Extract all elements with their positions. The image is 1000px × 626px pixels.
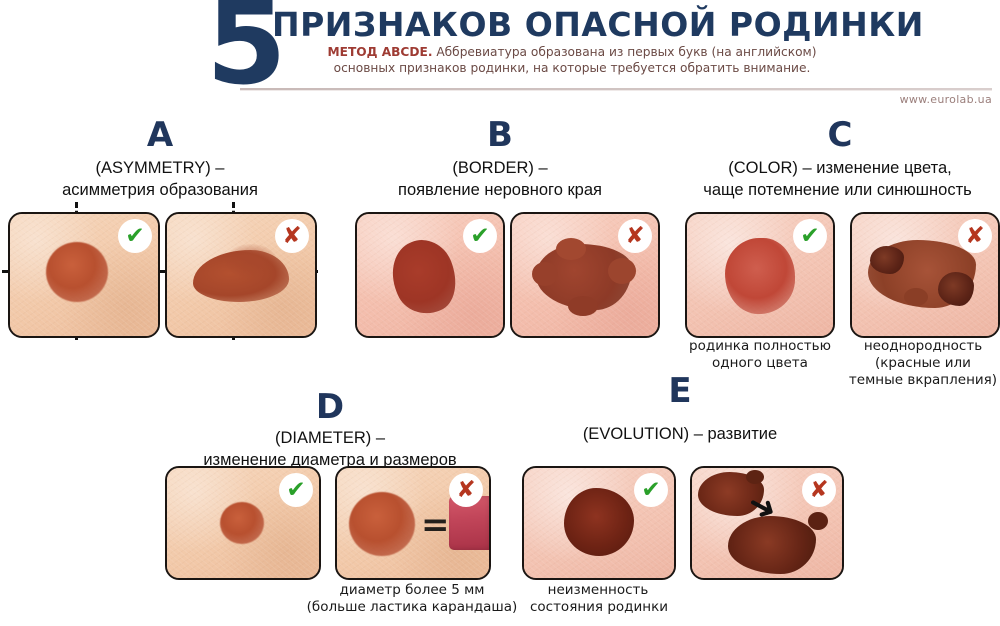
mole-dark-patch-2: [938, 272, 974, 306]
mole-asymmetric-lobe: [225, 244, 277, 278]
pencil-ferrule: [489, 496, 491, 550]
mole-lobe-2: [608, 258, 636, 284]
section-title-b-line2: появление неровного края: [340, 180, 660, 200]
section-title-d-line1: (DIAMETER) –: [180, 428, 480, 448]
card-b-smooth-border[interactable]: ✔: [355, 212, 505, 338]
infographic-root: 5 ПРИЗНАКОВ ОПАСНОЙ РОДИНКИ МЕТОД ABCDE.…: [0, 0, 1000, 626]
caption-c-no-line3: темные вкрапления): [848, 372, 998, 389]
header: 5 ПРИЗНАКОВ ОПАСНОЙ РОДИНКИ МЕТОД ABCDE.…: [0, 0, 1000, 112]
section-title-a-line1: (ASYMMETRY) –: [10, 158, 310, 178]
section-letter-d: D: [230, 390, 430, 424]
section-title-c-line1: (COLOR) – изменение цвета,: [680, 158, 1000, 178]
mole-unchanged: [564, 488, 634, 556]
cross-badge: ✘: [802, 473, 836, 507]
section-title-e-line1: (EVOLUTION) – развитие: [540, 424, 820, 444]
card-a-symmetric[interactable]: ✔: [8, 212, 160, 338]
caption-d-no-line2: (больше ластика карандаша): [296, 599, 528, 616]
check-badge: ✔: [793, 219, 827, 253]
card-d-small-mole[interactable]: ✔: [165, 466, 321, 580]
caption-c-no-line2: (красные или: [848, 355, 998, 372]
check-badge: ✔: [279, 473, 313, 507]
card-a-asymmetric[interactable]: ✘: [165, 212, 317, 338]
caption-c-ok-line1: родинка полностью: [680, 338, 840, 355]
page-title: ПРИЗНАКОВ ОПАСНОЙ РОДИНКИ: [272, 5, 924, 44]
section-letter-b: B: [400, 118, 600, 152]
mole-lobe-1: [532, 262, 558, 286]
card-d-large-mole[interactable]: = ✘: [335, 466, 491, 580]
cross-badge: ✘: [958, 219, 992, 253]
mole-dark-patch-1: [870, 246, 904, 274]
mole-lobe-lower: [904, 288, 928, 306]
check-badge: ✔: [463, 219, 497, 253]
cross-badge: ✘: [618, 219, 652, 253]
website-url: www.eurolab.ua: [900, 93, 992, 106]
card-c-uniform-color[interactable]: ✔: [685, 212, 835, 338]
mole-after-satellite: [808, 512, 828, 530]
mole-small: [220, 502, 264, 544]
mole-single-color: [725, 238, 795, 314]
section-letter-c: C: [740, 118, 940, 152]
caption-c-ok-line2: одного цвета: [680, 355, 840, 372]
header-subtitle-strong: МЕТОД ABCDE.: [327, 45, 432, 59]
section-title-a-line2: асимметрия образования: [10, 180, 310, 200]
caption-d-no-line1: диаметр более 5 мм: [320, 582, 504, 599]
section-letter-e: E: [580, 374, 780, 408]
cross-badge: ✘: [449, 473, 483, 507]
caption-e-ok-line1: неизменность: [524, 582, 672, 599]
check-badge: ✔: [118, 219, 152, 253]
card-e-evolving-mole[interactable]: ➜ ✘: [690, 466, 844, 580]
check-badge: ✔: [634, 473, 668, 507]
mole-before-satellite: [746, 470, 764, 484]
mole-symmetric: [46, 242, 108, 302]
equals-sign: =: [421, 512, 450, 538]
header-divider-light: [240, 90, 992, 91]
caption-e-ok-line2: состояния родинки: [516, 599, 682, 616]
mole-lobe-3: [568, 296, 598, 316]
card-e-stable-mole[interactable]: ✔: [522, 466, 676, 580]
card-b-irregular-border[interactable]: ✘: [510, 212, 660, 338]
section-title-c-line2: чаще потемнение или синюшность: [675, 180, 1000, 200]
cross-badge: ✘: [275, 219, 309, 253]
caption-c-no-line1: неоднородность: [848, 338, 998, 355]
section-title-b-line1: (BORDER) –: [350, 158, 650, 178]
card-c-mixed-color[interactable]: ✘: [850, 212, 1000, 338]
mole-lobe-4: [556, 238, 586, 260]
section-letter-a: A: [60, 118, 260, 152]
header-subtitle: МЕТОД ABCDE. Аббревиатура образована из …: [312, 44, 832, 76]
mole-large: [349, 492, 415, 556]
